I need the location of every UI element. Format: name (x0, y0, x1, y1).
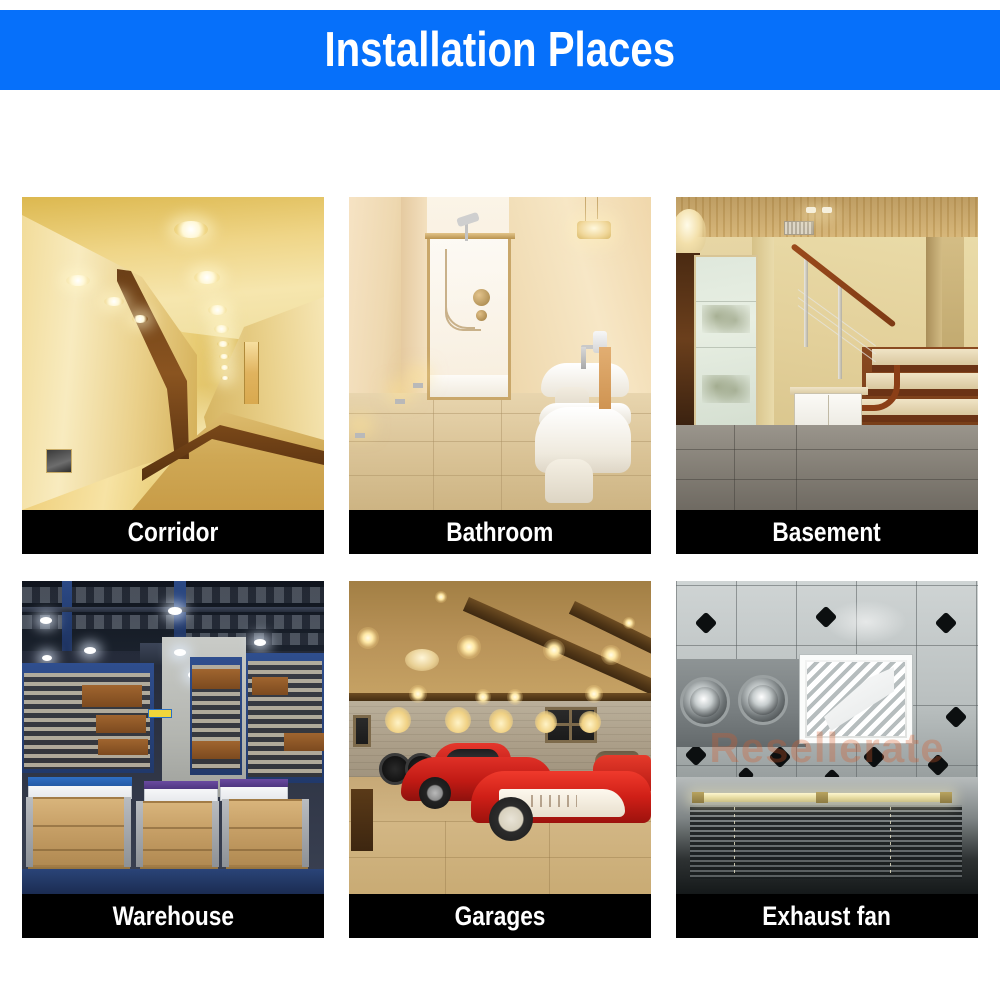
warehouse-shelf-crate (98, 739, 148, 755)
warehouse-crate (226, 799, 308, 867)
caption-label: Basement (773, 518, 881, 547)
garage-car-wheel (419, 777, 451, 809)
garage-ceiling-light (623, 617, 635, 629)
garage-wall-sconce (445, 707, 471, 733)
warehouse-box-label (28, 777, 132, 786)
exhaust-fan-photo: Resellerate (676, 581, 978, 894)
garage-ceiling-light (435, 591, 447, 603)
warehouse-high-bay-light (168, 607, 182, 615)
caption-label: Warehouse (112, 902, 233, 931)
bathroom-shower-rail (425, 233, 515, 239)
bathroom-floor-uplight (395, 399, 405, 404)
warehouse-photo (22, 581, 324, 894)
corridor-wall-light (66, 275, 90, 286)
garage-floor-seam (445, 821, 446, 894)
bathroom-pendant-cord (597, 197, 598, 219)
tube-end-cap (940, 792, 952, 803)
basement-door-floral-pattern (702, 375, 750, 403)
tile-caption-garages: Garages (349, 894, 651, 938)
heater-lamp-bulb (690, 687, 720, 717)
warehouse-high-bay-light (40, 617, 52, 624)
corridor-wall-light (104, 297, 124, 306)
blind-cord (890, 807, 891, 877)
basement-baluster (804, 259, 808, 347)
caption-label: Exhaust fan (763, 902, 892, 931)
garage-window (353, 715, 371, 747)
bathroom-floor-seam (433, 393, 434, 510)
garage-ceiling-light (543, 639, 565, 661)
tile-garages[interactable]: Garages (349, 581, 651, 938)
basement-ceiling-shading (676, 197, 978, 237)
tile-caption-exhaust-fan: Exhaust fan (676, 894, 978, 938)
corridor-downlight (220, 365, 229, 370)
image-watermark: Resellerate (676, 727, 978, 769)
garage-wall-sconce (385, 707, 411, 733)
bathroom-towel (599, 347, 611, 409)
warehouse-crate-seam (228, 849, 306, 851)
corridor-downlight (194, 271, 220, 284)
tile-exhaust-fan[interactable]: Resellerate Exhaust fan (676, 581, 978, 938)
garage-ceiling-light (475, 689, 491, 705)
basement-ceiling-spotlight (806, 207, 816, 213)
garage-wall-sconce (579, 711, 601, 733)
garage-ceiling-light (507, 689, 523, 705)
corridor-downlight (221, 376, 229, 380)
garage-car-wheel (489, 797, 533, 841)
garage-ceiling-light (357, 627, 379, 649)
warehouse-crate-seam (30, 849, 128, 851)
bathroom-floor-uplight (413, 383, 423, 388)
bathroom-shower-pipe (465, 223, 468, 241)
warehouse-high-bay-light (174, 649, 186, 656)
basement-photo (676, 197, 978, 510)
basement-ceiling-spotlight (822, 207, 832, 213)
warehouse-crate-seam (142, 827, 216, 829)
tile-caption-warehouse: Warehouse (22, 894, 324, 938)
basement-floor-seam (676, 449, 978, 450)
heater-lamp-bulb (748, 685, 778, 715)
basement-alcove-shadow (926, 235, 942, 355)
garage-floor-seam (349, 857, 651, 858)
basement-baluster (838, 283, 842, 379)
corridor-door (244, 342, 259, 404)
tile-warehouse[interactable]: Warehouse (22, 581, 324, 938)
warehouse-shelf-crate (192, 741, 240, 759)
warehouse-beam (62, 581, 72, 651)
warehouse-box-label (144, 781, 218, 789)
warehouse-aisle-sign (148, 709, 172, 718)
corridor-wall-panel (46, 449, 72, 473)
corridor-downlight (174, 221, 208, 238)
warehouse-crate (28, 797, 130, 867)
warehouse-crate-strap (302, 799, 309, 867)
corridor-downlight (217, 341, 229, 347)
warehouse-crate-strap (26, 797, 33, 867)
bathroom-tap (581, 347, 586, 369)
warehouse-shelf-crate (192, 669, 240, 689)
garage-ceiling-light (601, 645, 621, 665)
page-title: Installation Places (325, 24, 676, 76)
caption-label: Corridor (128, 518, 219, 547)
bathroom-hose-outlet (476, 310, 487, 321)
basement-ceiling-vent (784, 221, 814, 235)
garages-photo (349, 581, 651, 894)
warehouse-shelf-crate (252, 677, 288, 695)
warehouse-crate-strap (212, 801, 219, 867)
ceiling-reflection-glow (826, 601, 906, 643)
warehouse-shelf-crate (96, 715, 146, 733)
warehouse-floor (22, 869, 324, 894)
tile-caption-corridor: Corridor (22, 510, 324, 554)
window-blinds (690, 805, 962, 879)
bathroom-floor-seam (501, 393, 502, 510)
warehouse-crate (140, 801, 218, 867)
garage-chandelier (405, 649, 439, 671)
corridor-wall-light (132, 315, 148, 323)
bathroom-floor-seam (349, 475, 651, 476)
warehouse-crate-seam (30, 825, 128, 827)
warehouse-box-label (220, 779, 288, 787)
blind-cord (734, 807, 735, 877)
garage-car-side-vents (531, 795, 577, 807)
bathroom-mixer-valve (473, 289, 490, 306)
bathroom-pendant-light (577, 221, 611, 239)
basement-door-seam (696, 347, 756, 348)
tile-caption-bathroom: Bathroom (349, 510, 651, 554)
tube-end-cap (816, 792, 828, 803)
garage-ceiling-light (585, 685, 603, 703)
bathroom-toilet-base (545, 459, 593, 503)
warehouse-shelf-crate (82, 685, 142, 707)
garage-wall-sconce (489, 709, 513, 733)
corridor-downlight (219, 354, 229, 359)
warehouse-crate-seam (228, 827, 306, 829)
warehouse-high-bay-light (84, 647, 96, 654)
basement-floor-seam (734, 425, 735, 510)
tile-grid: Corridor (22, 197, 978, 938)
garage-ceiling-light (409, 685, 427, 703)
garage-floor-seam (549, 821, 550, 894)
basement-floor (676, 425, 978, 510)
warehouse-crate-strap (124, 797, 131, 867)
warehouse-high-bay-light (42, 655, 52, 661)
tile-basement[interactable]: Basement (676, 197, 978, 554)
tile-caption-basement: Basement (676, 510, 978, 554)
tile-corridor[interactable]: Corridor (22, 197, 324, 554)
tube-end-cap (692, 792, 704, 803)
garage-wall-sconce (535, 711, 557, 733)
bathroom-floor-uplight (355, 433, 365, 438)
corridor-photo (22, 197, 324, 510)
warehouse-crate-strap (222, 799, 229, 867)
tile-bathroom[interactable]: Bathroom (349, 197, 651, 554)
warehouse-high-bay-light (254, 639, 266, 646)
warehouse-crate-strap (136, 801, 143, 867)
basement-chandelier (676, 209, 706, 255)
warehouse-shelf-crate (284, 733, 324, 751)
basement-door-seam (696, 301, 756, 302)
installation-places-page: Installation Places (0, 0, 1000, 1000)
garage-table (351, 789, 373, 851)
bathroom-photo (349, 197, 651, 510)
warehouse-crate-seam (142, 849, 216, 851)
header-banner: Installation Places (0, 10, 1000, 90)
basement-floor-seam (796, 425, 797, 510)
basement-door-floral-pattern (702, 305, 750, 333)
basement-floor-seam (676, 479, 978, 480)
caption-label: Garages (455, 902, 546, 931)
caption-label: Bathroom (446, 518, 553, 547)
garage-ceiling-light (457, 635, 481, 659)
corridor-downlight (208, 305, 227, 315)
corridor-downlight (214, 325, 229, 333)
